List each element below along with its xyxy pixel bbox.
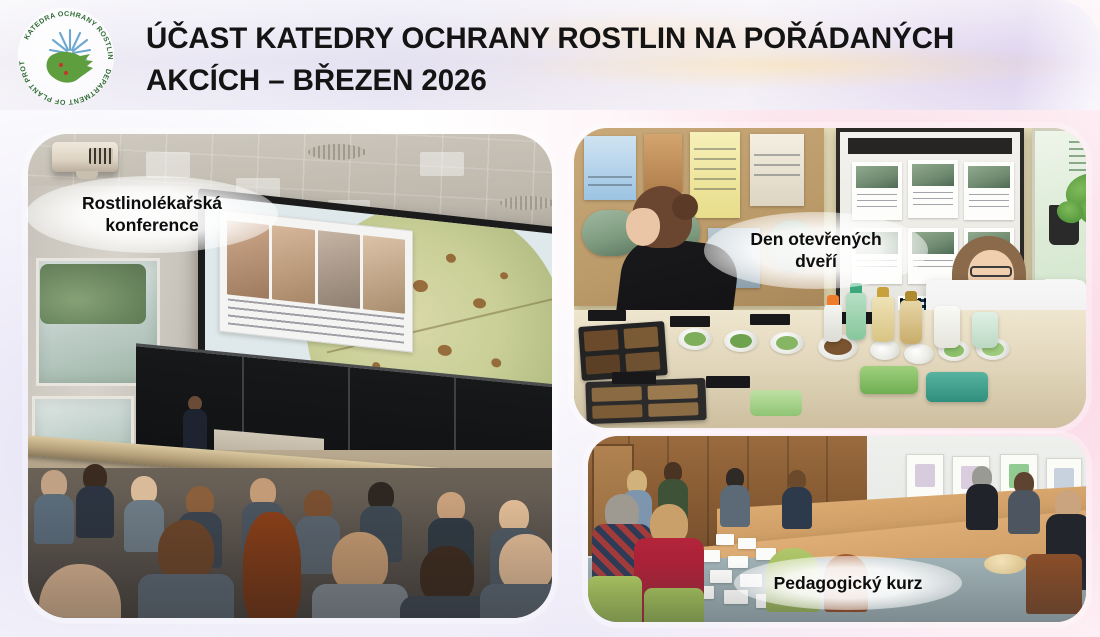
participant-person <box>966 466 998 524</box>
petri-dish <box>904 344 934 364</box>
herb-tray <box>750 390 802 416</box>
logo-emblem-svg: KATEDRA OCHRANY ROSTLIN DEPARTMENT OF PL… <box>14 6 118 106</box>
panel-card <box>964 162 1014 220</box>
ceiling-vent-icon <box>500 196 552 210</box>
department-logo: KATEDRA OCHRANY ROSTLIN DEPARTMENT OF PL… <box>14 6 118 106</box>
sample-label <box>588 310 626 321</box>
herb-tray <box>926 372 988 402</box>
jar <box>934 306 960 348</box>
task-card <box>738 538 756 549</box>
sample-label <box>750 314 790 325</box>
ceiling-vent-icon <box>308 144 366 160</box>
scene-seminar-room <box>588 436 1086 622</box>
herb-tray <box>860 366 918 394</box>
poster-quote-text <box>1069 141 1086 171</box>
sample-label <box>706 376 750 388</box>
eyeglasses-icon <box>970 266 1012 277</box>
notice-photo <box>768 220 816 272</box>
photo-pedagogicky-kurz <box>588 436 1086 622</box>
plant-sample <box>776 336 798 350</box>
petri-dish <box>870 340 900 360</box>
notice-poster <box>750 134 804 206</box>
plant-sample <box>684 332 706 346</box>
panel-card <box>852 162 902 220</box>
participant-person <box>720 468 750 522</box>
projector-icon <box>52 142 118 172</box>
bottle <box>872 296 894 342</box>
panel-card <box>908 160 958 218</box>
scene-lecture-hall <box>28 134 552 618</box>
participant-person <box>782 470 812 524</box>
sample-label <box>670 316 710 327</box>
scene-open-day: ASUS <box>574 128 1086 428</box>
jar <box>972 312 998 348</box>
notice-poster <box>644 134 682 192</box>
panel-card <box>852 228 902 284</box>
slide-root: KATEDRA OCHRANY ROSTLIN DEPARTMENT OF PL… <box>0 0 1100 637</box>
bottle <box>900 300 922 344</box>
bottle <box>824 304 842 342</box>
plant-sample <box>730 334 752 348</box>
photo-den-otevrenych-dveri: ASUS <box>574 128 1086 428</box>
photo-rostlinolekarska-konference <box>28 134 552 618</box>
participant-person <box>1008 472 1040 528</box>
bottle <box>846 292 866 340</box>
slide-inset-photos <box>219 210 413 353</box>
task-card <box>716 534 734 545</box>
sample-tray <box>585 378 706 424</box>
sample-label <box>612 372 656 384</box>
logo-caterpillar-icon <box>47 52 94 83</box>
slide-title: ÚČAST KATEDRY OCHRANY ROSTLIN NA POŘÁDAN… <box>146 18 1026 102</box>
